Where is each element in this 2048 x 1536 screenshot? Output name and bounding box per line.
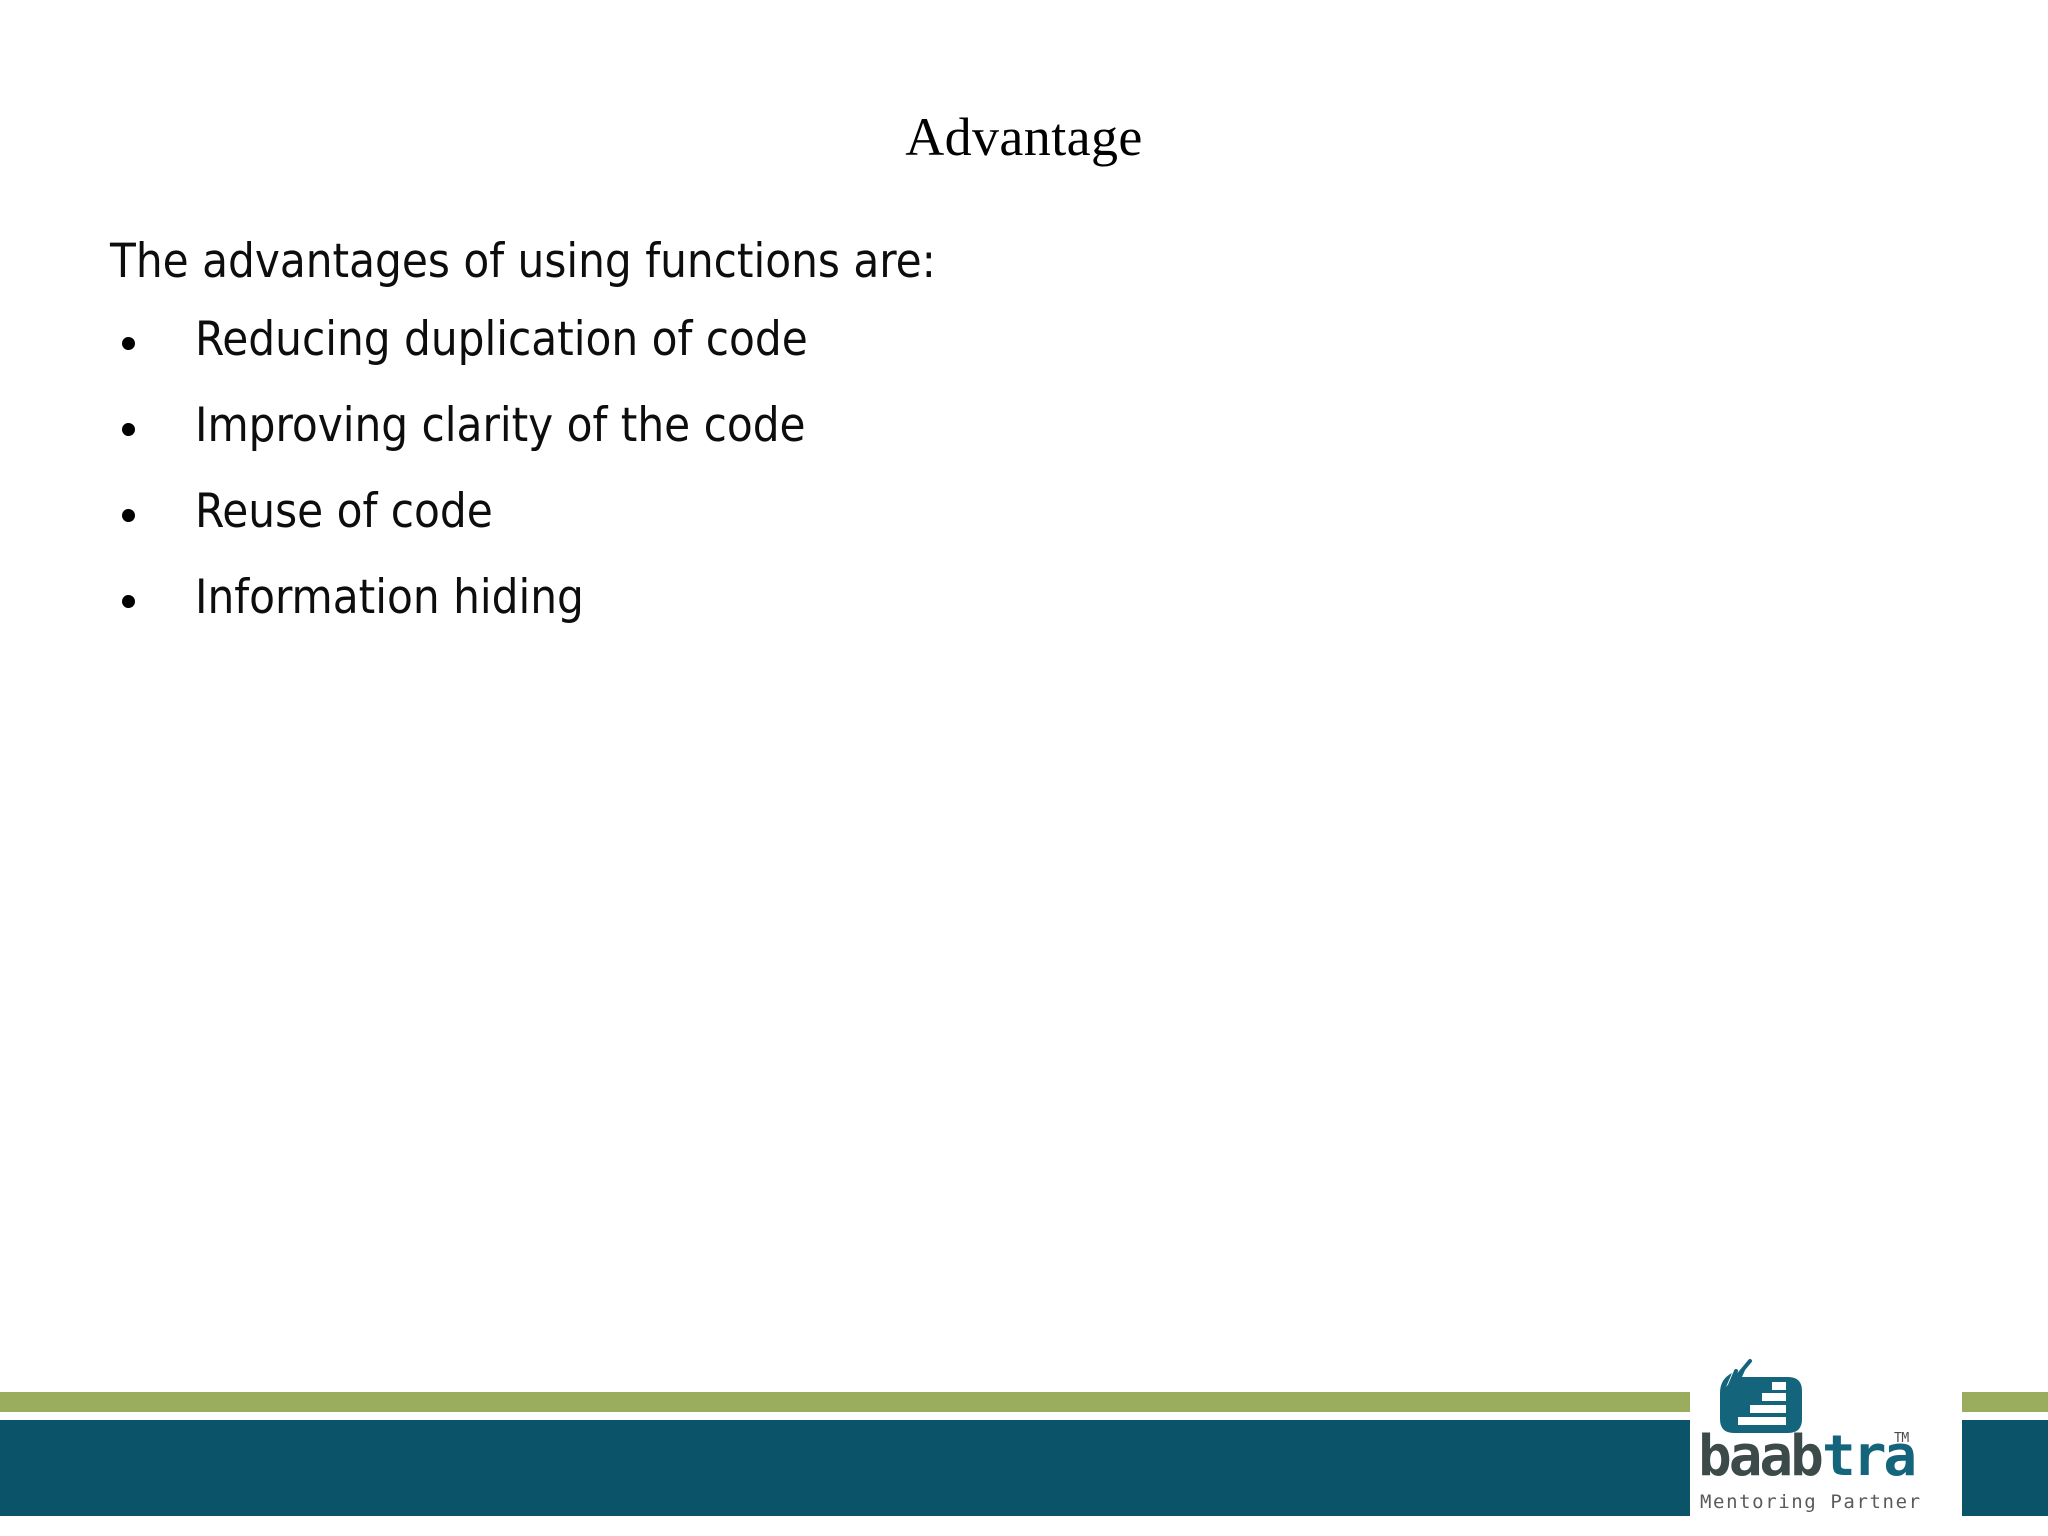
logo-tagline: Mentoring Partner <box>1700 1491 1950 1513</box>
list-item-label: Reducing duplication of code <box>195 315 1810 364</box>
advantages-bullet-list: Reducing duplication of code Improving c… <box>110 315 1810 629</box>
logo-wordmark: baab tra <box>1698 1427 1948 1489</box>
slide-canvas: Advantage The advantages of using functi… <box>0 0 2048 1536</box>
logo: baab tra TM Mentoring Partner <box>1690 1355 1962 1536</box>
list-item: Reducing duplication of code <box>110 315 1810 371</box>
page-title: Advantage <box>0 108 2048 167</box>
bullet-dot-icon <box>122 337 135 350</box>
bullet-dot-icon <box>122 423 135 436</box>
footer-accent-bar-green-right <box>1962 1392 2048 1412</box>
list-item-label: Improving clarity of the code <box>195 401 1810 450</box>
bullet-dot-icon <box>122 595 135 608</box>
list-item-label: Information hiding <box>195 573 1810 622</box>
svg-text:baab: baab <box>1698 1427 1822 1489</box>
logo-inner: baab tra TM Mentoring Partner <box>1698 1355 1962 1536</box>
bullet-dot-icon <box>122 509 135 522</box>
list-item: Reuse of code <box>110 487 1810 543</box>
footer-bar-teal-right <box>1962 1420 2048 1516</box>
list-item: Improving clarity of the code <box>110 401 1810 457</box>
footer-accent-bar-green-left <box>0 1392 1690 1412</box>
list-item: Information hiding <box>110 573 1810 629</box>
lead-paragraph: The advantages of using functions are: <box>110 238 1810 285</box>
footer-bar-teal-left <box>0 1420 1690 1516</box>
list-item-label: Reuse of code <box>195 487 1810 536</box>
trademark-symbol: TM <box>1894 1431 1909 1446</box>
slide-body: The advantages of using functions are: R… <box>110 238 1810 629</box>
